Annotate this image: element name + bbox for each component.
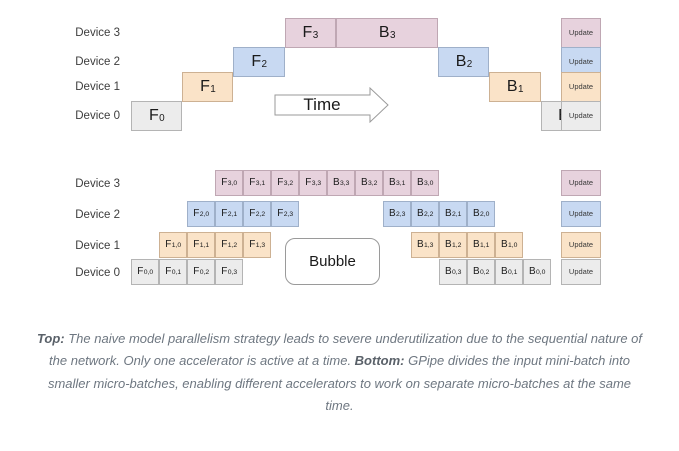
bottom-cell-f0-1: F0,1 bbox=[159, 259, 187, 285]
cell-base-label: F bbox=[193, 240, 199, 250]
cell-base-label: B bbox=[417, 178, 424, 188]
cell-base-label: F bbox=[249, 240, 255, 250]
cell-base-label: B bbox=[473, 209, 480, 219]
bottom-cell-f3-3: F3,3 bbox=[299, 170, 327, 196]
device-label-top-device-3: Device 3 bbox=[50, 27, 120, 39]
cell-base-label: B bbox=[473, 267, 480, 277]
cell-subscript: 1,2 bbox=[228, 243, 237, 250]
top-update-cell-3: Update bbox=[561, 101, 601, 131]
cell-base-label: F bbox=[251, 54, 261, 70]
cell-base-label: F bbox=[221, 267, 227, 277]
bottom-cell-f0-3: F0,3 bbox=[215, 259, 243, 285]
cell-base-label: B bbox=[417, 240, 424, 250]
cell-base-label: F bbox=[165, 267, 171, 277]
cell-subscript: 0,3 bbox=[452, 270, 461, 277]
bottom-update-cell-0: Update bbox=[561, 170, 601, 196]
cell-subscript: 1,1 bbox=[200, 243, 209, 250]
top-cell-b2: B2 bbox=[438, 47, 489, 77]
top-cell-f3: F3 bbox=[285, 18, 336, 48]
time-arrow-label: Time bbox=[274, 87, 370, 123]
top-cell-f0: F0 bbox=[131, 101, 182, 131]
cell-base-label: B bbox=[379, 25, 390, 41]
bottom-update-cell-2: Update bbox=[561, 232, 601, 258]
figure-caption: Top: The naive model parallelism strateg… bbox=[36, 328, 643, 417]
cell-base-label: F bbox=[249, 178, 255, 188]
cell-base-label: B bbox=[389, 209, 396, 219]
bottom-cell-b3-2: B3,2 bbox=[355, 170, 383, 196]
cell-subscript: 0,3 bbox=[228, 270, 237, 277]
device-label-top-device-2: Device 2 bbox=[50, 56, 120, 68]
device-label-top-device-1: Device 1 bbox=[50, 81, 120, 93]
caption-top-bold: Top: bbox=[37, 331, 65, 346]
cell-base-label: B bbox=[529, 267, 536, 277]
cell-base-label: F bbox=[303, 25, 313, 41]
cell-subscript: 3,0 bbox=[228, 181, 237, 188]
cell-base-label: F bbox=[221, 209, 227, 219]
cell-base-label: B bbox=[445, 209, 452, 219]
bottom-cell-f1-1: F1,1 bbox=[187, 232, 215, 258]
cell-subscript: 3,2 bbox=[284, 181, 293, 188]
bottom-update-cell-3: Update bbox=[561, 259, 601, 285]
cell-subscript: 3,1 bbox=[256, 181, 265, 188]
bottom-cell-b1-0: B1,0 bbox=[495, 232, 523, 258]
bottom-cell-b3-3: B3,3 bbox=[327, 170, 355, 196]
cell-base-label: F bbox=[277, 209, 283, 219]
cell-subscript: 2,3 bbox=[396, 212, 405, 219]
cell-base-label: B bbox=[445, 240, 452, 250]
device-label-bottom-device-1: Device 1 bbox=[50, 240, 120, 252]
time-arrow: Time bbox=[274, 87, 390, 123]
cell-base-label: B bbox=[361, 178, 368, 188]
cell-subscript: 2,2 bbox=[256, 212, 265, 219]
cell-subscript: 2 bbox=[467, 60, 473, 70]
cell-subscript: 1,3 bbox=[424, 243, 433, 250]
top-update-cell-0: Update bbox=[561, 18, 601, 48]
cell-base-label: F bbox=[221, 178, 227, 188]
cell-base-label: B bbox=[389, 178, 396, 188]
bottom-cell-b3-1: B3,1 bbox=[383, 170, 411, 196]
cell-base-label: F bbox=[249, 209, 255, 219]
device-label-bottom-device-0: Device 0 bbox=[50, 267, 120, 279]
bottom-update-cell-1: Update bbox=[561, 201, 601, 227]
cell-subscript: 2,1 bbox=[452, 212, 461, 219]
cell-base-label: B bbox=[473, 240, 480, 250]
cell-subscript: 1,0 bbox=[508, 243, 517, 250]
bottom-cell-f3-0: F3,0 bbox=[215, 170, 243, 196]
cell-subscript: 1,2 bbox=[452, 243, 461, 250]
bottom-cell-b1-1: B1,1 bbox=[467, 232, 495, 258]
bottom-cell-f0-0: F0,0 bbox=[131, 259, 159, 285]
bottom-cell-f3-2: F3,2 bbox=[271, 170, 299, 196]
bottom-cell-f1-3: F1,3 bbox=[243, 232, 271, 258]
bottom-cell-b1-2: B1,2 bbox=[439, 232, 467, 258]
bottom-cell-b2-1: B2,1 bbox=[439, 201, 467, 227]
cell-base-label: F bbox=[200, 79, 210, 95]
caption-bottom-bold: Bottom: bbox=[355, 353, 405, 368]
bottom-cell-f2-3: F2,3 bbox=[271, 201, 299, 227]
cell-subscript: 2,0 bbox=[480, 212, 489, 219]
bottom-cell-b0-1: B0,1 bbox=[495, 259, 523, 285]
cell-base-label: B bbox=[333, 178, 340, 188]
cell-subscript: 0,2 bbox=[200, 270, 209, 277]
top-cell-b3: B3 bbox=[336, 18, 438, 48]
cell-base-label: F bbox=[221, 240, 227, 250]
cell-base-label: B bbox=[417, 209, 424, 219]
gpipe-figure: Device 3F3B3UpdateDevice 2F2B2UpdateDevi… bbox=[0, 0, 679, 451]
cell-subscript: 0,1 bbox=[508, 270, 517, 277]
top-cell-b1: B1 bbox=[489, 72, 540, 102]
cell-base-label: B bbox=[456, 54, 467, 70]
cell-subscript: 1 bbox=[518, 85, 524, 95]
bottom-cell-f3-1: F3,1 bbox=[243, 170, 271, 196]
bottom-cell-b2-0: B2,0 bbox=[467, 201, 495, 227]
device-label-bottom-device-2: Device 2 bbox=[50, 209, 120, 221]
bottom-cell-f1-0: F1,0 bbox=[159, 232, 187, 258]
bubble-box: Bubble bbox=[285, 238, 380, 285]
cell-subscript: 2 bbox=[262, 60, 268, 70]
cell-base-label: B bbox=[445, 267, 452, 277]
bottom-cell-f2-1: F2,1 bbox=[215, 201, 243, 227]
cell-subscript: 3 bbox=[390, 31, 396, 41]
cell-subscript: 2,2 bbox=[424, 212, 433, 219]
cell-subscript: 3,2 bbox=[368, 181, 377, 188]
cell-subscript: 0,0 bbox=[144, 270, 153, 277]
cell-subscript: 1,3 bbox=[256, 243, 265, 250]
cell-subscript: 0 bbox=[159, 114, 165, 124]
cell-subscript: 3 bbox=[313, 31, 319, 41]
cell-subscript: 3,3 bbox=[340, 181, 349, 188]
cell-base-label: F bbox=[277, 178, 283, 188]
cell-subscript: 0,0 bbox=[536, 270, 545, 277]
cell-subscript: 3,1 bbox=[396, 181, 405, 188]
bottom-cell-b2-2: B2,2 bbox=[411, 201, 439, 227]
top-cell-f1: F1 bbox=[182, 72, 233, 102]
top-update-cell-2: Update bbox=[561, 72, 601, 102]
cell-subscript: 3,3 bbox=[312, 181, 321, 188]
bottom-cell-b2-3: B2,3 bbox=[383, 201, 411, 227]
cell-base-label: F bbox=[149, 108, 159, 124]
top-cell-f2: F2 bbox=[233, 47, 284, 77]
device-label-bottom-device-3: Device 3 bbox=[50, 178, 120, 190]
bottom-cell-f0-2: F0,2 bbox=[187, 259, 215, 285]
bottom-cell-f1-2: F1,2 bbox=[215, 232, 243, 258]
cell-subscript: 2,3 bbox=[284, 212, 293, 219]
cell-subscript: 2,0 bbox=[200, 212, 209, 219]
bottom-cell-f2-0: F2,0 bbox=[187, 201, 215, 227]
cell-base-label: F bbox=[137, 267, 143, 277]
cell-base-label: F bbox=[305, 178, 311, 188]
cell-subscript: 0,1 bbox=[172, 270, 181, 277]
bottom-cell-b0-3: B0,3 bbox=[439, 259, 467, 285]
cell-subscript: 1 bbox=[210, 85, 216, 95]
cell-subscript: 1,1 bbox=[480, 243, 489, 250]
bottom-cell-f2-2: F2,2 bbox=[243, 201, 271, 227]
cell-base-label: B bbox=[501, 267, 508, 277]
cell-base-label: F bbox=[193, 209, 199, 219]
cell-subscript: 0,2 bbox=[480, 270, 489, 277]
cell-subscript: 3,0 bbox=[424, 181, 433, 188]
cell-base-label: B bbox=[507, 79, 518, 95]
bottom-cell-b3-0: B3,0 bbox=[411, 170, 439, 196]
cell-subscript: 1,0 bbox=[172, 243, 181, 250]
cell-base-label: F bbox=[165, 240, 171, 250]
cell-base-label: F bbox=[193, 267, 199, 277]
cell-base-label: B bbox=[501, 240, 508, 250]
cell-subscript: 2,1 bbox=[228, 212, 237, 219]
device-label-top-device-0: Device 0 bbox=[50, 110, 120, 122]
bottom-cell-b0-2: B0,2 bbox=[467, 259, 495, 285]
bottom-cell-b0-0: B0,0 bbox=[523, 259, 551, 285]
bottom-cell-b1-3: B1,3 bbox=[411, 232, 439, 258]
